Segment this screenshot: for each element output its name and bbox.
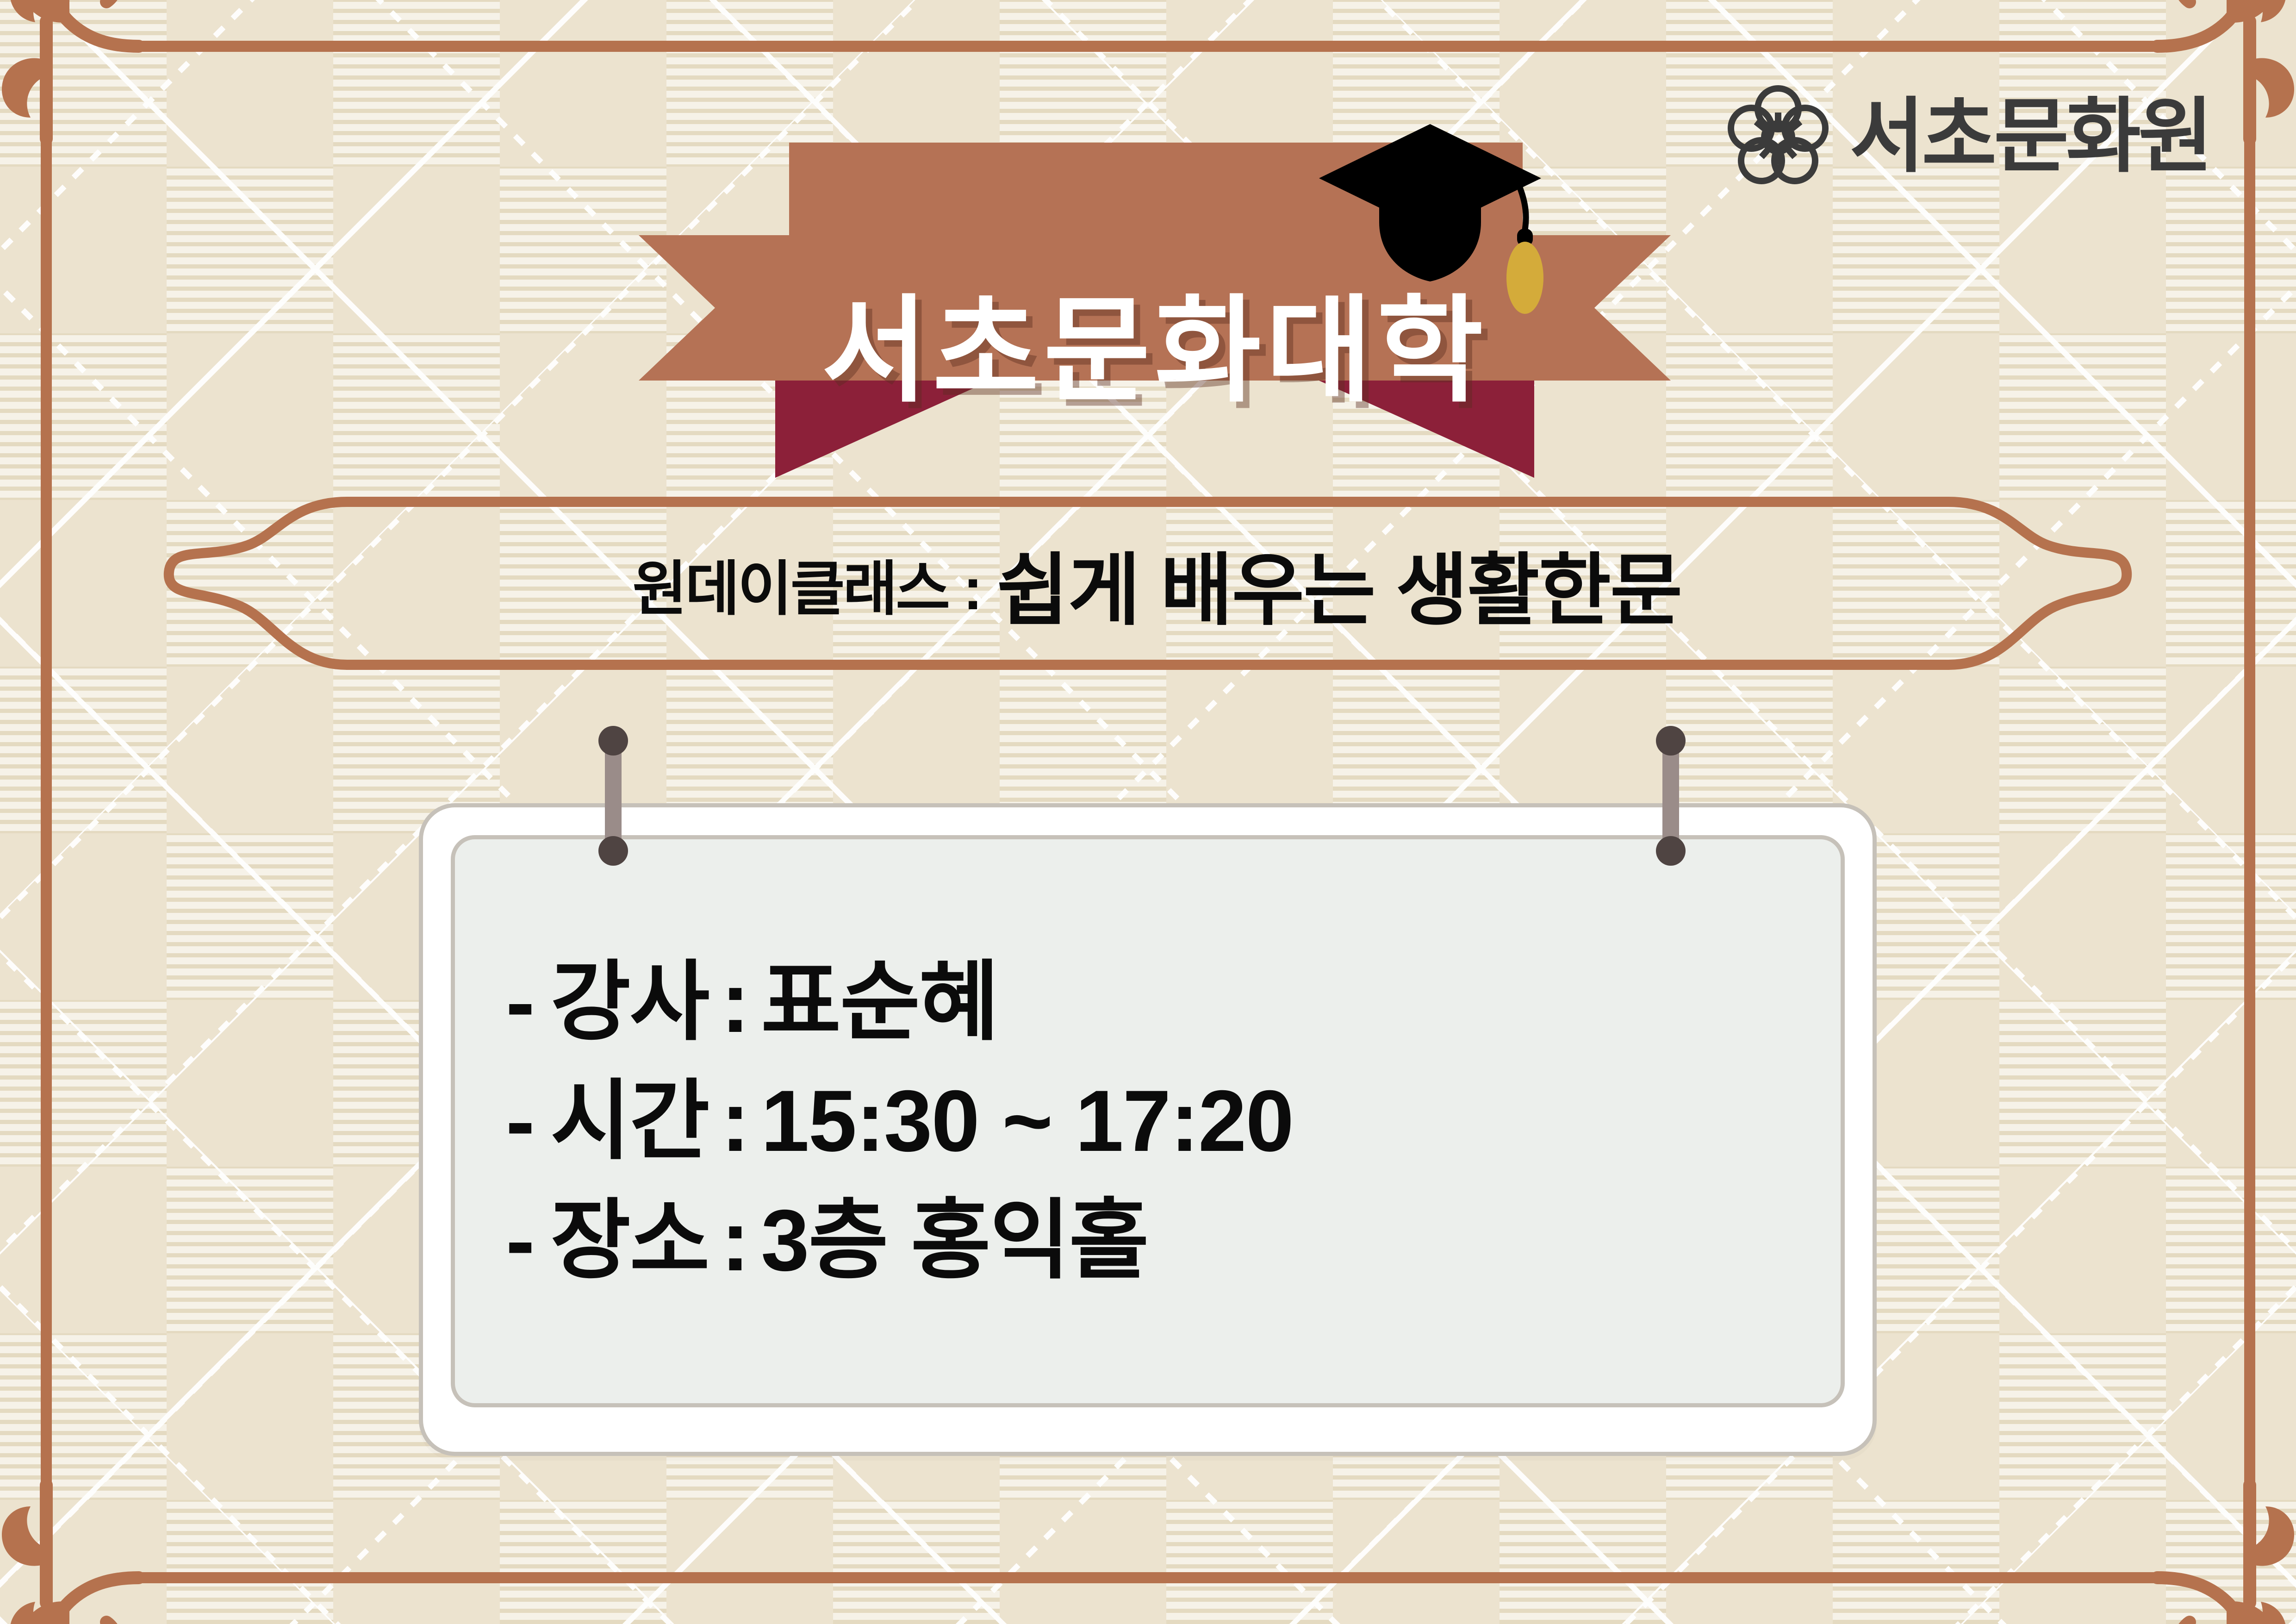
poster-canvas: 서초문화원 서초문화대학 (0, 0, 2296, 1624)
plum-blossom-logo-icon (1723, 81, 1834, 192)
organization-logo: 서초문화원 (1723, 81, 2210, 192)
bullet-dash: - (506, 956, 534, 1048)
info-line-place: - 장소 : 3층 홍익홀 (506, 1194, 1841, 1287)
info-label-place: 장소 (551, 1194, 709, 1287)
subtitle-text: 원데이클래스 : 쉽게 배우는 생활한문 (153, 491, 2143, 676)
bullet-dash: - (506, 1075, 534, 1167)
subtitle-scroll-frame: 원데이클래스 : 쉽게 배우는 생활한문 (153, 491, 2143, 676)
info-separator: : (721, 1194, 749, 1287)
info-separator: : (721, 1075, 749, 1167)
info-label-time: 시간 (551, 1075, 709, 1167)
subtitle-main: 쉽게 배우는 생활한문 (996, 526, 1681, 640)
info-value-instructor: 표순혜 (761, 956, 998, 1048)
info-card-body: - 강사 : 표순혜 - 시간 : 15:30 ~ 17:20 - 장소 : 3… (451, 835, 1845, 1407)
info-value-time: 15:30 ~ 17:20 (761, 1075, 1293, 1167)
organization-name: 서초문화원 (1849, 96, 2210, 177)
subtitle-lead: 원데이클래스 : (633, 541, 981, 626)
info-card: - 강사 : 표순혜 - 시간 : 15:30 ~ 17:20 - 장소 : 3… (419, 803, 1877, 1456)
info-separator: : (721, 956, 749, 1048)
info-line-time: - 시간 : 15:30 ~ 17:20 (506, 1075, 1841, 1167)
info-line-instructor: - 강사 : 표순혜 (506, 956, 1841, 1048)
info-value-place: 3층 홍익홀 (761, 1194, 1148, 1287)
bullet-dash: - (506, 1194, 534, 1287)
graduation-cap-icon (1310, 116, 1550, 333)
info-label-instructor: 강사 (551, 956, 709, 1048)
